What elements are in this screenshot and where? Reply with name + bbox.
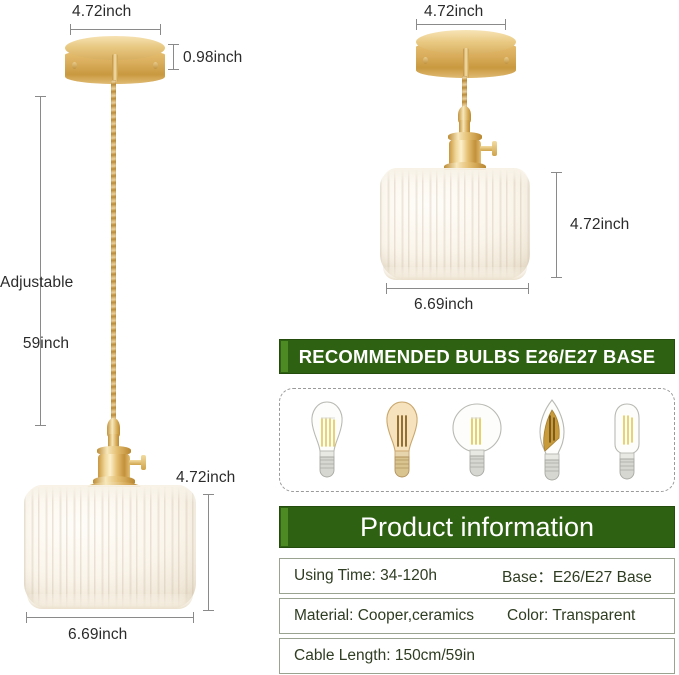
- bulb-st64-amber-filament-bulb: [370, 396, 434, 484]
- right-canopy-width-dimension-line: [416, 24, 506, 25]
- product-information-banner: Product information: [279, 506, 675, 548]
- bulb-st64-clear-filament-bulb: [295, 396, 359, 484]
- spec-cable-length-value: Cable Length: 150cm/59in: [294, 647, 475, 665]
- canopy-screw-left: [72, 62, 77, 69]
- left-socket-switch-tip[interactable]: [141, 455, 146, 470]
- left-canopy-width-label: 4.72inch: [72, 2, 131, 21]
- bulb-g25-globe-filament-bulb: [445, 396, 509, 484]
- left-socket-assembly: [85, 418, 143, 490]
- banner-accent-bar: [281, 341, 288, 372]
- bulb-t45-tube-filament-bulb: [595, 396, 659, 484]
- right-canopy-screw-left: [423, 57, 428, 64]
- left-shade-height-dimension-line: [208, 494, 209, 611]
- left-canopy-height-dimension-line: [173, 44, 174, 70]
- recommended-bulbs-title: RECOMMENDED BULBS E26/E27 BASE: [299, 346, 656, 368]
- left-shade-height-label: 4.72inch: [176, 468, 235, 487]
- right-shade-height-label: 4.72inch: [570, 215, 629, 234]
- right-lamp-shade: [380, 170, 530, 280]
- spec-row-material: Material: Cooper,ceramics Color: Transpa…: [279, 598, 675, 634]
- left-lamp-shade: [24, 487, 196, 609]
- spec-color-value: Color: Transparent: [507, 607, 635, 625]
- left-shade-width-label: 6.69inch: [68, 625, 127, 644]
- left-canopy-width-dimension-line: [70, 29, 161, 30]
- bulb-candle-gold-tip-bulb: [520, 396, 584, 484]
- right-shade-width-label: 6.69inch: [414, 295, 473, 314]
- right-shade-height-dimension-line: [556, 172, 557, 278]
- right-canopy-screw-right: [504, 57, 509, 64]
- left-canopy-height-label: 0.98inch: [183, 48, 242, 67]
- spec-row-using-time: Using Time: 34-120h Base：E26/E27 Base: [279, 558, 675, 594]
- left-power-cord: [111, 80, 116, 425]
- left-cord-length-label: Adjustable 59inch: [0, 233, 92, 374]
- recommended-bulbs-box: [279, 388, 675, 492]
- left-canopy: [65, 36, 165, 84]
- canopy-screw-right: [153, 62, 158, 69]
- right-shade-width-dimension-line: [386, 288, 529, 289]
- recommended-bulbs-banner: RECOMMENDED BULBS E26/E27 BASE: [279, 339, 675, 374]
- spec-row-cable-length: Cable Length: 150cm/59in: [279, 638, 675, 674]
- right-canopy-width-label: 4.72inch: [424, 2, 483, 21]
- left-cord-length-label-line1: Adjustable: [0, 273, 92, 293]
- left-shade-width-dimension-line: [26, 617, 194, 618]
- spec-base-value: Base：E26/E27 Base: [502, 565, 652, 587]
- spec-material-value: Material: Cooper,ceramics: [294, 607, 474, 625]
- canopy-cord-stem: [112, 54, 118, 82]
- right-canopy-cord-stem: [463, 48, 469, 78]
- product-information-title: Product information: [360, 512, 594, 543]
- product-banner-accent-bar: [281, 508, 288, 546]
- right-canopy: [416, 30, 516, 78]
- left-cord-length-label-line2: 59inch: [0, 334, 92, 354]
- right-socket-switch-tip[interactable]: [492, 141, 497, 156]
- spec-using-time-value: Using Time: 34-120h: [294, 567, 437, 585]
